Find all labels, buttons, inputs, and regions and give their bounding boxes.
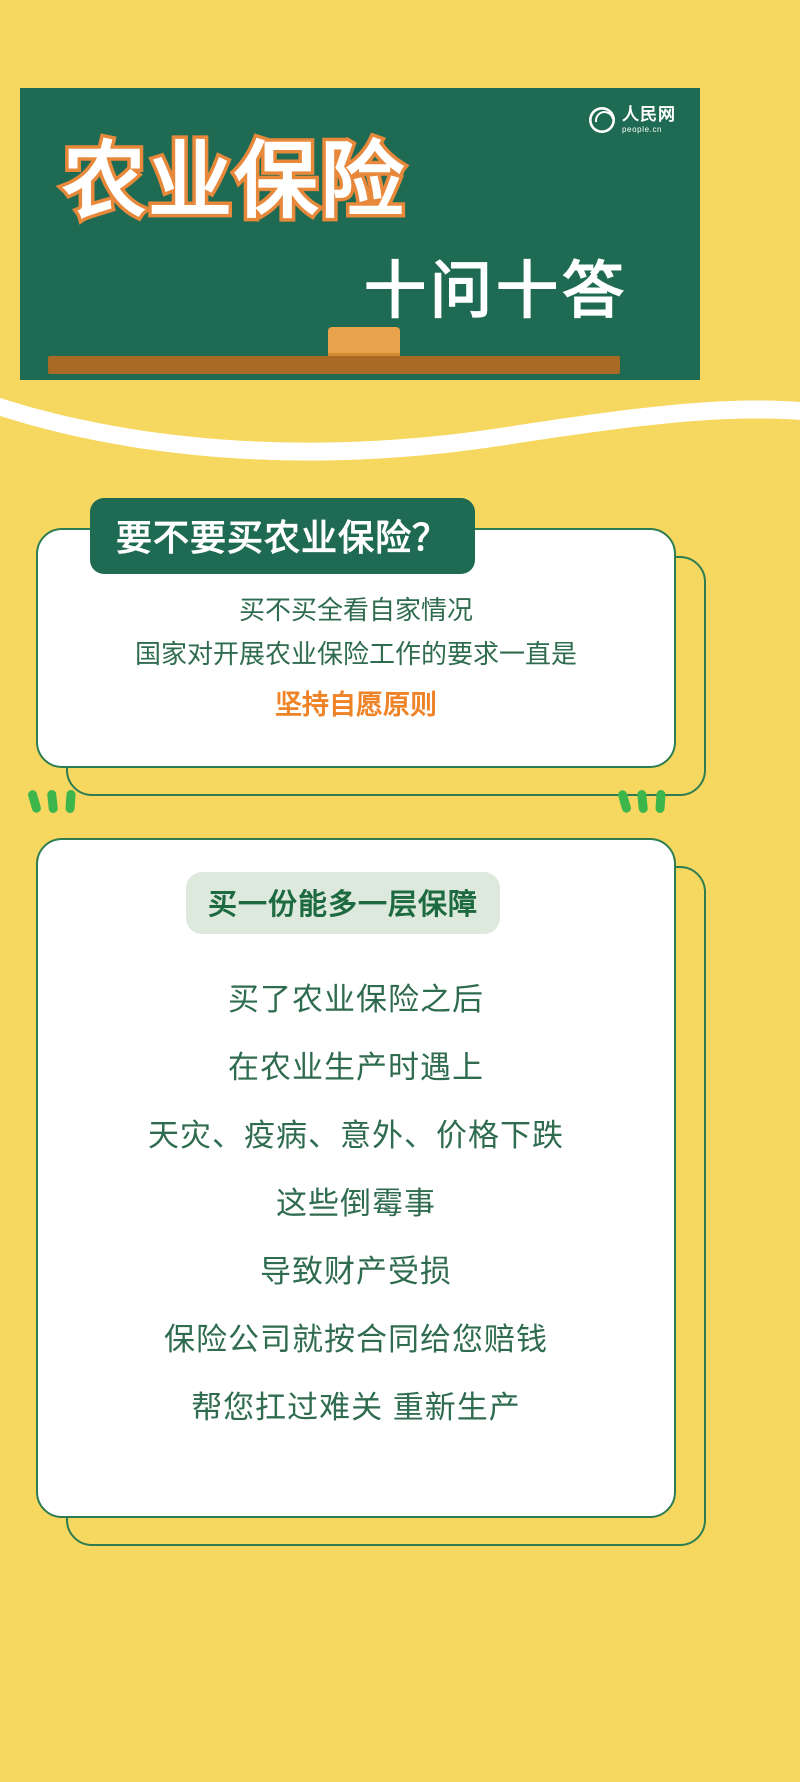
card-2-line-4: 这些倒霉事 [36,1170,676,1238]
leaf-dash-icon [617,789,632,814]
leaf-dash-icon [27,789,42,814]
leaf-dashes-left [30,790,75,813]
bottom-background-fill [0,1560,800,1782]
card-2-line-5: 导致财产受损 [36,1238,676,1306]
card-1-line-1: 买不买全看自家情况 [36,588,676,632]
leaf-dash-icon [637,790,648,814]
card-2-line-2: 在农业生产时遇上 [36,1034,676,1102]
logo-text-group: 人民网 people.cn [622,106,676,134]
card-2-line-7: 帮您扛过难关 重新生产 [36,1374,676,1442]
card-2-line-6: 保险公司就按合同给您赔钱 [36,1306,676,1374]
leaf-dash-icon [47,790,58,814]
card-1-body: 买不买全看自家情况 国家对开展农业保险工作的要求一直是 坚持自愿原则 [36,588,676,728]
card-1-line-2: 国家对开展农业保险工作的要求一直是 [36,632,676,676]
card-1-heading: 要不要买农业保险？ [90,498,475,574]
chalk-ledge [48,356,620,374]
chalk-eraser-icon [328,327,400,356]
page-title-sub: 十问十答 [364,240,628,330]
wave-divider [0,380,800,470]
peoples-daily-logo: 人民网 people.cn [589,106,676,134]
page-title-main: 农业保险 [62,114,406,235]
header-blackboard: 人民网 people.cn 农业保险 十问十答 [20,88,700,388]
leaf-dash-icon [65,790,76,814]
logo-english-name: people.cn [622,126,676,134]
leaf-dash-icon [655,790,666,814]
card-2-body: 买了农业保险之后 在农业生产时遇上 天灾、疫病、意外、价格下跌 这些倒霉事 导致… [36,966,676,1442]
infographic-page: 人民网 people.cn 农业保险 十问十答 要不要买农业保险？ 买不买全看自… [0,0,800,1782]
card-2-line-3: 天灾、疫病、意外、价格下跌 [36,1102,676,1170]
leaf-dashes-right [620,790,665,813]
people-cn-globe-icon [589,107,615,133]
card-2-heading: 买一份能多一层保障 [186,872,500,934]
card-1-highlight: 坚持自愿原则 [36,682,676,728]
logo-chinese-name: 人民网 [622,106,676,123]
card-2-line-1: 买了农业保险之后 [36,966,676,1034]
